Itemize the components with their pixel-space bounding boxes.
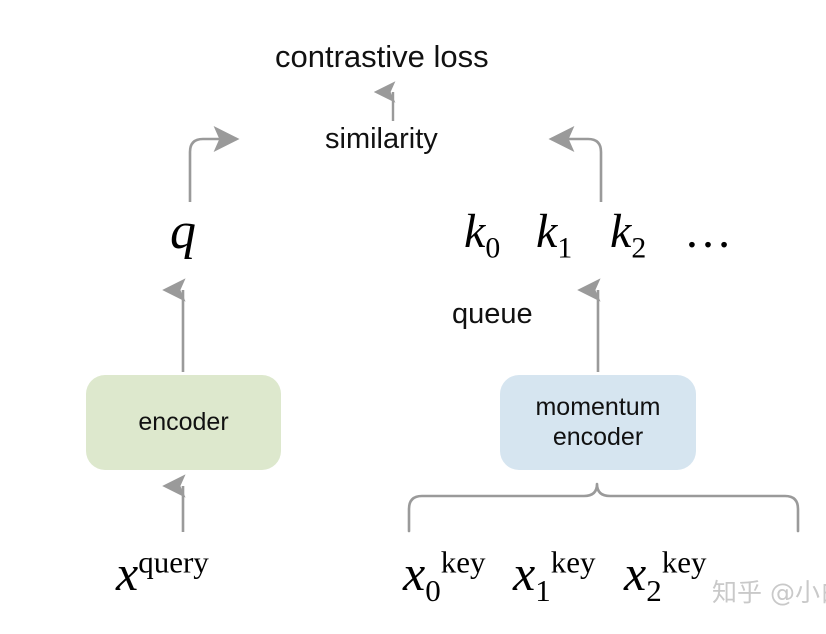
diagram-canvas: contrastive loss similarity queue q k0 k… (0, 0, 826, 634)
contrastive-loss-label: contrastive loss (275, 41, 489, 72)
momentum-encoder-box-line1: momentum (535, 393, 660, 423)
queue-label: queue (452, 300, 533, 329)
encoder-box-label: encoder (138, 408, 228, 438)
key-embedding-symbol-0: k0 (464, 208, 500, 256)
key-input-base-2: x (624, 545, 646, 601)
arrow-q-to-similarity (190, 139, 237, 202)
key-input-symbol-1: x1key (513, 548, 595, 598)
key-input-subscript-2: 2 (646, 573, 662, 608)
key-input-subscript-0: 0 (425, 573, 441, 608)
encoder-box[interactable]: encoder (86, 375, 281, 470)
key-input-superscript-2: key (662, 544, 707, 579)
key-embedding-subscript-2: 2 (631, 232, 646, 265)
key-embedding-subscript-0: 0 (485, 232, 500, 265)
key-input-symbol-0: x0key (403, 548, 485, 598)
query-input-symbol: xquery (116, 548, 209, 598)
key-embedding-base-0: k (464, 205, 485, 258)
query-input-superscript: query (138, 544, 209, 579)
key-embedding-ellipsis: … (684, 208, 732, 256)
connector-layer (0, 0, 826, 634)
arrow-keys-to-similarity (551, 139, 601, 202)
key-input-superscript-0: key (441, 544, 486, 579)
key-inputs-brace (409, 484, 798, 531)
key-embedding-subscript-1: 1 (557, 232, 572, 265)
key-embedding-base-2: k (610, 205, 631, 258)
query-embedding-base: q (170, 203, 196, 260)
similarity-label: similarity (325, 125, 438, 154)
key-input-base-1: x (513, 545, 535, 601)
ellipsis-glyph: … (684, 205, 732, 258)
query-embedding-symbol: q (170, 206, 196, 258)
key-input-base-0: x (403, 545, 425, 601)
key-embedding-symbol-2: k2 (610, 208, 646, 256)
momentum-encoder-box-line2: encoder (553, 423, 643, 453)
momentum-encoder-box[interactable]: momentum encoder (500, 375, 696, 470)
query-input-base: x (116, 545, 138, 601)
key-input-subscript-1: 1 (535, 573, 551, 608)
watermark: 知乎 @小白 (712, 580, 826, 605)
key-embedding-base-1: k (536, 205, 557, 258)
key-input-superscript-1: key (551, 544, 596, 579)
key-embedding-symbol-1: k1 (536, 208, 572, 256)
key-input-symbol-2: x2key (624, 548, 706, 598)
